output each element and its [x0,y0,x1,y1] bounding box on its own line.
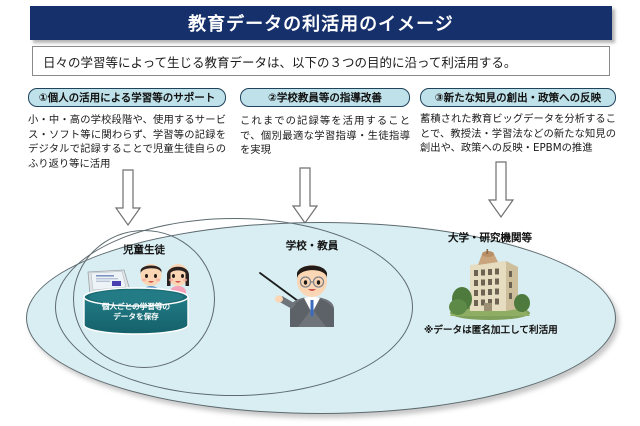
purpose-header-3: ③新たな知見の創出・政策への反映 [420,88,616,107]
arrow-down-icon-research [488,162,514,218]
subtitle-box: 日々の学習等によって生じる教育データは、以下の３つの目的に沿って利活用する。 [32,46,610,76]
database-cylinder: 個人ごとの学習等の データを保存 [82,288,190,334]
slide-root: 教育データの利活用のイメージ 日々の学習等によって生じる教育データは、以下の３つ… [0,0,640,426]
purpose-body-2: これまでの記録等を活用することで、個別最適な学習指導・生徒指導を実現 [240,114,410,158]
actor-label-university: 大学・研究機関等 [420,230,560,245]
teacher-icon [252,257,372,329]
purpose-body-1: 小・中・高の学校段階や、使用するサービス・ソフト等に関わらず、学習等の記録をデジ… [28,113,226,171]
actor-label-students: 児童生徒 [84,242,204,257]
actor-teacher: 学校・教員 [252,238,372,329]
actor-label-teacher: 学校・教員 [252,238,372,253]
purpose-column-2: ②学校教員等の指導改善 これまでの記録等を活用することで、個別最適な学習指導・生… [240,88,410,158]
subtitle-text: 日々の学習等によって生じる教育データは、以下の３つの目的に沿って利活用する。 [43,52,516,71]
purpose-column-3: ③新たな知見の創出・政策への反映 蓄積された教育ビッグデータを分析することで、教… [420,88,616,156]
title-banner: 教育データの利活用のイメージ [30,6,612,40]
purpose-header-1: ①個人の活用による学習等のサポート [28,88,226,107]
purpose-column-1: ①個人の活用による学習等のサポート 小・中・高の学校段階や、使用するサービス・ソ… [28,88,226,171]
purpose-header-2: ②学校教員等の指導改善 [240,88,410,107]
arrow-down-icon-teacher [292,168,318,224]
page-title: 教育データの利活用のイメージ [188,10,454,36]
purpose-body-3: 蓄積された教育ビッグデータを分析することで、教授法・学習法などの新たな知見の創出… [420,112,616,156]
anonymization-note: ※データは匿名加工して利活用 [424,322,558,336]
university-building-icon [420,249,560,321]
actor-university: 大学・研究機関等 [420,230,560,321]
arrow-down-icon-individual [115,170,141,226]
